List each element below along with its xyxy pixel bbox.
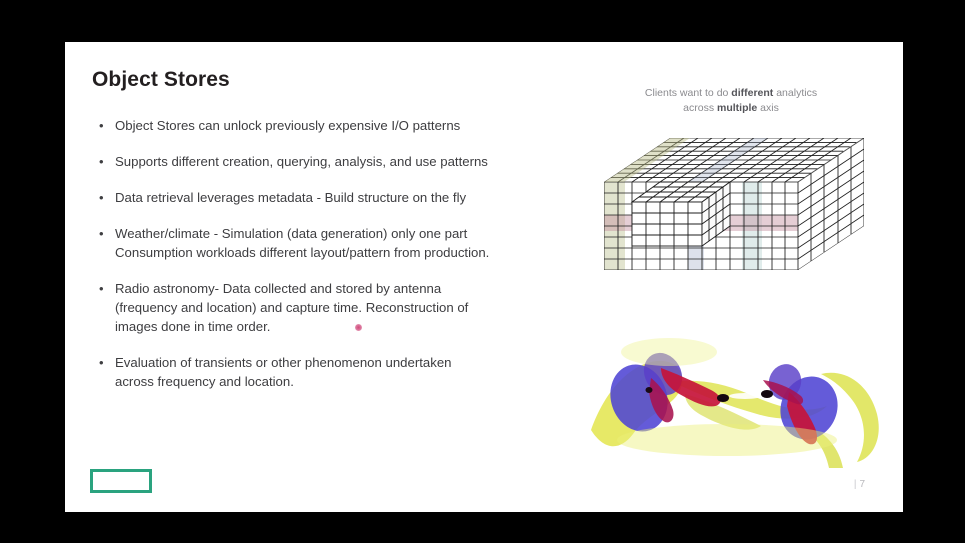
list-item-line: images done in time order.	[115, 317, 592, 336]
cube-selected-block	[632, 182, 730, 246]
volume-render-svg	[577, 322, 897, 470]
bullet-marker-icon: •	[97, 116, 115, 135]
page-number: 7	[859, 479, 868, 490]
cube-caption-bold-different: different	[731, 87, 773, 99]
bullet-marker-icon: •	[97, 353, 115, 372]
page-marker: |7	[854, 479, 868, 490]
figure-column: Clients want to do different analytics a…	[580, 86, 880, 300]
list-item-line: (frequency and location) and capture tim…	[115, 298, 592, 317]
cube-caption-bold-multiple: multiple	[717, 102, 757, 114]
isometric-data-cube-figure	[592, 120, 868, 300]
radio-astronomy-visualization	[577, 322, 897, 470]
list-item-line: Data retrieval leverages metadata - Buil…	[115, 188, 592, 207]
list-item-line: across frequency and location.	[115, 372, 592, 391]
list-item-text: Weather/climate - Simulation (data gener…	[115, 224, 592, 262]
hpe-logo	[90, 469, 152, 493]
list-item-line: Object Stores can unlock previously expe…	[115, 116, 592, 135]
list-item: • Supports different creation, querying,…	[97, 152, 592, 171]
bullet-marker-icon: •	[97, 224, 115, 243]
cube-front-face	[604, 182, 798, 270]
list-item-line: Supports different creation, querying, a…	[115, 152, 592, 171]
list-item: • Radio astronomy- Data collected and st…	[97, 279, 592, 336]
list-item-text: Supports different creation, querying, a…	[115, 152, 592, 171]
laser-pointer-dot	[355, 324, 362, 331]
list-item-line: Radio astronomy- Data collected and stor…	[115, 279, 592, 298]
data-cube-svg	[592, 120, 868, 300]
list-item: • Weather/climate - Simulation (data gen…	[97, 224, 592, 262]
list-item-text: Radio astronomy- Data collected and stor…	[115, 279, 592, 336]
cube-caption-part3: across	[683, 102, 717, 114]
page-title: Object Stores	[92, 68, 230, 92]
list-item: • Data retrieval leverages metadata - Bu…	[97, 188, 592, 207]
presentation-slide: Object Stores • Object Stores can unlock…	[65, 42, 903, 512]
cube-caption-part1: Clients want to do	[645, 87, 731, 99]
list-item-text: Object Stores can unlock previously expe…	[115, 116, 592, 135]
list-item: • Evaluation of transients or other phen…	[97, 353, 592, 391]
list-item: • Object Stores can unlock previously ex…	[97, 116, 592, 135]
bullet-marker-icon: •	[97, 188, 115, 207]
video-letterbox-frame: Object Stores • Object Stores can unlock…	[0, 0, 965, 543]
list-item-line: Consumption workloads different layout/p…	[115, 243, 592, 262]
bullet-marker-icon: •	[97, 279, 115, 298]
list-item-text: Evaluation of transients or other phenom…	[115, 353, 592, 391]
cube-caption-part2: analytics	[773, 87, 817, 99]
bullet-list: • Object Stores can unlock previously ex…	[97, 116, 592, 408]
bullet-marker-icon: •	[97, 152, 115, 171]
cube-caption-part4: axis	[757, 102, 779, 114]
list-item-text: Data retrieval leverages metadata - Buil…	[115, 188, 592, 207]
cube-caption: Clients want to do different analytics a…	[595, 86, 867, 116]
list-item-line: Evaluation of transients or other phenom…	[115, 353, 592, 372]
list-item-line: Weather/climate - Simulation (data gener…	[115, 224, 592, 243]
